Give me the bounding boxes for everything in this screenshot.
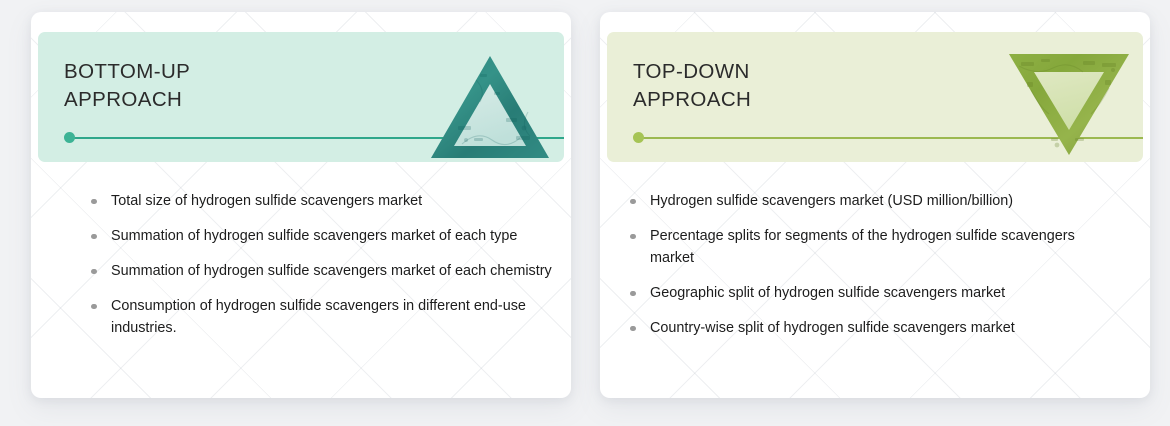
bullet-marker-icon [630, 199, 636, 205]
bullet-marker-icon [630, 291, 636, 297]
list-item: Total size of hydrogen sulfide scavenger… [79, 190, 571, 212]
header-rule-dot [633, 132, 644, 143]
list-item: Country-wise split of hydrogen sulfide s… [618, 317, 1080, 339]
bullet-marker-icon [91, 199, 97, 205]
header-rule-line [638, 137, 1143, 139]
card-title-bottom-up: BOTTOM-UP APPROACH [64, 58, 190, 114]
bullet-marker-icon [630, 234, 636, 240]
list-item-text: Total size of hydrogen sulfide scavenger… [111, 193, 422, 209]
bullet-marker-icon [91, 269, 97, 275]
list-item: Summation of hydrogen sulfide scavengers… [79, 225, 571, 247]
header-rule-bottom-up [64, 132, 564, 143]
list-item-text: Hydrogen sulfide scavengers market (USD … [650, 193, 1013, 209]
approach-cards-container: BOTTOM-UP APPROACH [0, 0, 1170, 426]
card-title-top-down: TOP-DOWN APPROACH [633, 58, 751, 114]
bullet-list-bottom-up: Total size of hydrogen sulfide scavenger… [79, 190, 571, 352]
card-bottom-up-approach: BOTTOM-UP APPROACH [31, 12, 571, 398]
list-item-text: Percentage splits for segments of the hy… [650, 228, 1075, 266]
list-item-text: Consumption of hydrogen sulfide scavenge… [111, 298, 526, 336]
list-item: Summation of hydrogen sulfide scavengers… [79, 260, 571, 282]
list-item: Consumption of hydrogen sulfide scavenge… [79, 295, 571, 339]
list-item-text: Summation of hydrogen sulfide scavengers… [111, 228, 517, 244]
list-item: Geographic split of hydrogen sulfide sca… [618, 282, 1080, 304]
list-item: Percentage splits for segments of the hy… [618, 225, 1080, 269]
list-item: Hydrogen sulfide scavengers market (USD … [618, 190, 1080, 212]
header-rule-dot [64, 132, 75, 143]
card-header-top-down: TOP-DOWN APPROACH [607, 32, 1143, 162]
list-item-text: Summation of hydrogen sulfide scavengers… [111, 263, 552, 279]
list-item-text: Country-wise split of hydrogen sulfide s… [650, 320, 1015, 336]
bullet-list-top-down: Hydrogen sulfide scavengers market (USD … [618, 190, 1150, 352]
triangle-up-icon [428, 52, 552, 162]
header-rule-line [69, 137, 564, 139]
bullet-marker-icon [630, 326, 636, 332]
triangle-down-icon [1005, 50, 1133, 162]
card-top-down-approach: TOP-DOWN APPROACH [600, 12, 1150, 398]
list-item-text: Geographic split of hydrogen sulfide sca… [650, 285, 1005, 301]
bullet-marker-icon [91, 234, 97, 240]
header-rule-top-down [633, 132, 1143, 143]
card-header-bottom-up: BOTTOM-UP APPROACH [38, 32, 564, 162]
bullet-marker-icon [91, 304, 97, 310]
